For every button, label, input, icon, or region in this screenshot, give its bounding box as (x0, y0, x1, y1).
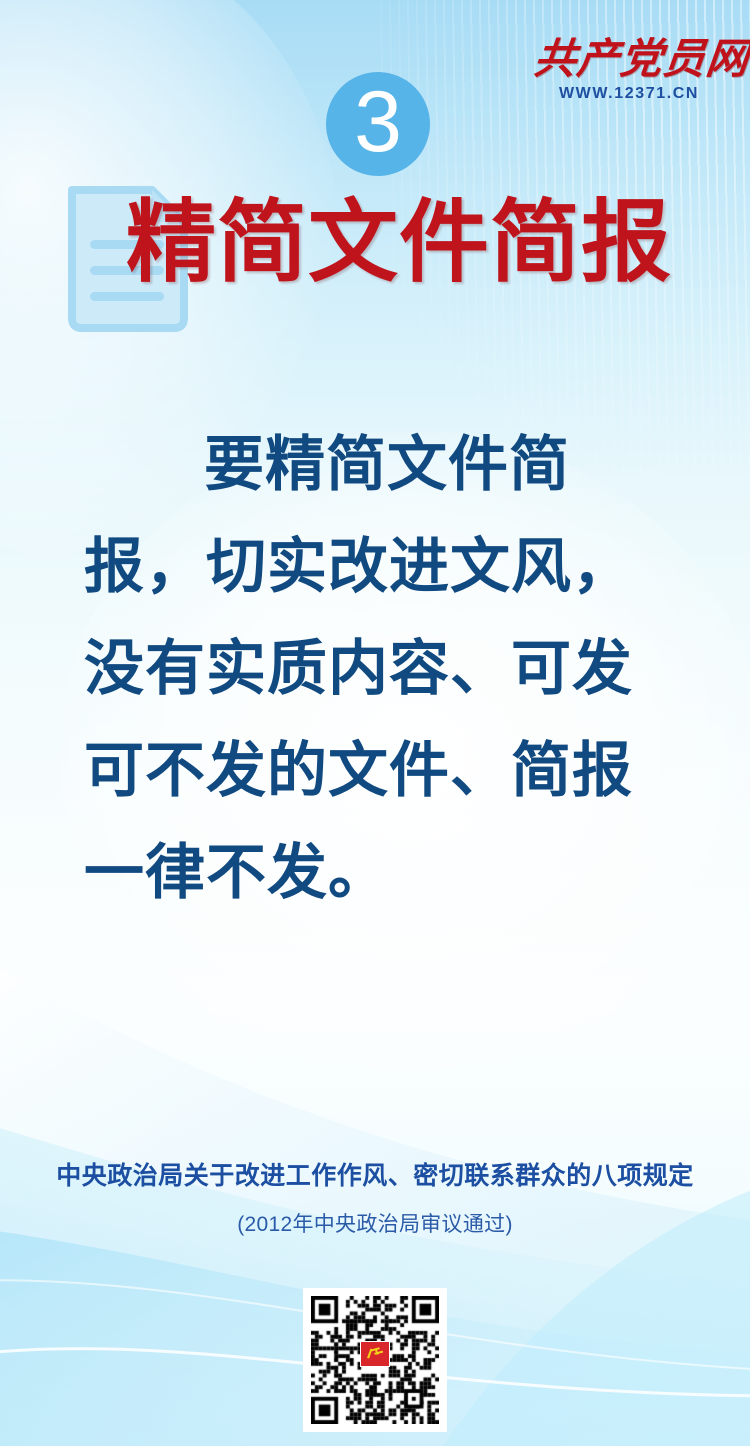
logo-wordmark: 共产党员网 (532, 38, 727, 82)
page-title: 精简文件简报 (126, 198, 672, 288)
footer-regulation-title: 中央政治局关于改进工作作风、密切联系群众的八项规定 (0, 1156, 750, 1192)
section-number: 3 (354, 79, 402, 165)
poster-root: 共产党员网 WWW.12371.CN 3 精简文件简报 要精简文件简报，切实改进… (0, 0, 750, 1446)
body-paragraph: 要精简文件简报，切实改进文风，没有实质内容、可发可不发的文件、简报一律不发。 (84, 414, 674, 924)
party-emblem-icon (360, 1341, 390, 1367)
document-line-3 (90, 292, 164, 301)
section-number-badge: 3 (326, 72, 430, 176)
qr-code[interactable] (303, 1288, 447, 1432)
footer-regulation-subtitle: (2012年中央政治局审议通过) (0, 1208, 750, 1238)
site-logo[interactable]: 共产党员网 WWW.12371.CN (534, 38, 724, 103)
logo-url: WWW.12371.CN (534, 85, 724, 103)
